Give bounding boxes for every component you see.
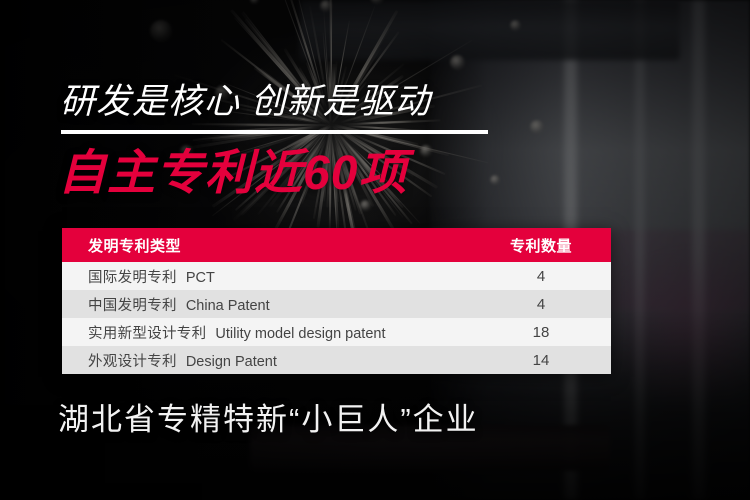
cell-patent-type: 实用新型设计专利Utility model design patent xyxy=(62,322,471,343)
cell-type-cn: 国际发明专利 xyxy=(88,270,177,286)
cell-type-en: China Patent xyxy=(186,298,270,314)
table-body: 国际发明专利PCT4中国发明专利China Patent4实用新型设计专利Uti… xyxy=(62,262,611,374)
cell-type-en: Utility model design patent xyxy=(215,326,385,342)
banner-content: 研发是核心 创新是驱动 自主专利近60项 发明专利类型 专利数量 国际发明专利P… xyxy=(0,0,750,500)
cell-patent-count: 18 xyxy=(471,324,611,341)
table-row: 外观设计专利Design Patent14 xyxy=(62,346,611,374)
cell-patent-type: 中国发明专利China Patent xyxy=(62,294,471,315)
title-divider xyxy=(61,130,488,134)
cell-type-cn: 实用新型设计专利 xyxy=(88,326,206,342)
headline-primary: 研发是核心 创新是驱动 xyxy=(60,80,431,124)
table-row: 实用新型设计专利Utility model design patent18 xyxy=(62,318,611,346)
cell-type-cn: 中国发明专利 xyxy=(88,298,177,314)
promo-banner: 研发是核心 创新是驱动 自主专利近60项 发明专利类型 专利数量 国际发明专利P… xyxy=(0,0,750,500)
column-header-type: 发明专利类型 xyxy=(62,235,471,256)
cell-patent-type: 外观设计专利Design Patent xyxy=(62,350,471,371)
cell-patent-type: 国际发明专利PCT xyxy=(62,266,471,287)
column-header-count: 专利数量 xyxy=(471,235,611,256)
cell-patent-count: 4 xyxy=(471,296,611,313)
footer-caption: 湖北省专精特新“小巨人”企业 xyxy=(58,398,479,442)
patent-table: 发明专利类型 专利数量 国际发明专利PCT4中国发明专利China Patent… xyxy=(62,228,611,374)
table-header-row: 发明专利类型 专利数量 xyxy=(62,228,611,262)
cell-patent-count: 14 xyxy=(471,352,611,369)
cell-type-en: Design Patent xyxy=(186,354,277,370)
table-row: 中国发明专利China Patent4 xyxy=(62,290,611,318)
cell-type-cn: 外观设计专利 xyxy=(88,354,177,370)
cell-type-en: PCT xyxy=(186,270,215,286)
table-row: 国际发明专利PCT4 xyxy=(62,262,611,290)
cell-patent-count: 4 xyxy=(471,268,611,285)
headline-accent: 自主专利近60项 xyxy=(58,145,407,203)
